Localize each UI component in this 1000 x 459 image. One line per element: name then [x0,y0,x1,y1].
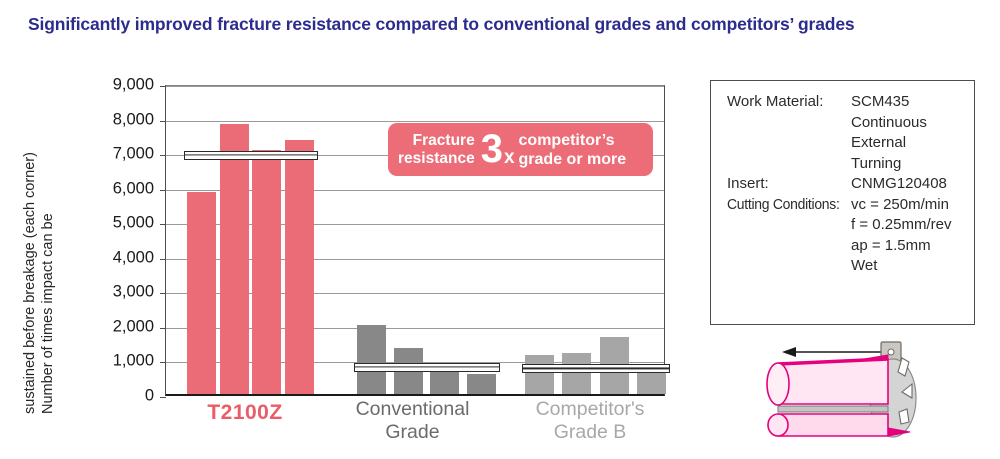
y-axis-tick-labels: 9,0008,0007,0006,0005,0004,0003,0002,000… [76,60,160,456]
conditions-value: vc = 250m/min [851,196,951,217]
y-axis-tick [160,293,166,294]
cutting-conditions-box: Work Material:SCM435ContinuousExternalTu… [710,80,975,325]
conditions-value: ap = 1.5mm [851,237,951,258]
callout-multiplier: 3 [481,130,503,170]
y-axis-tick-label: 2,000 [113,317,154,336]
callout-left-text: Fracture resistance [398,132,475,168]
bar [252,150,281,394]
y-axis-tick [160,121,166,122]
conditions-row: Work Material:SCM435 [727,93,951,114]
bar [220,124,249,394]
conditions-value: CNMG120408 [851,175,951,196]
workpiece-groove [778,406,888,412]
page-title: Significantly improved fracture resistan… [28,14,978,35]
conditions-value: Turning [851,155,951,176]
y-axis-tick [160,328,166,329]
conditions-value: External [851,134,951,155]
callout-right-text: competitor’s grade or more [519,131,627,169]
y-axis-tick-label: 8,000 [113,110,154,129]
y-axis-title-line1: Number of times impact can be [40,213,56,414]
feed-direction-arrow-head [782,347,796,357]
y-axis-tick [160,190,166,191]
conditions-label: Insert: [727,175,851,196]
bar-group [187,86,314,394]
interrupted-turning-workpiece-diagram [752,336,992,454]
y-axis-tick-label: 4,000 [113,248,154,267]
conditions-row: Insert:CNMG120408 [727,175,951,196]
y-axis-tick [160,224,166,225]
conditions-label [727,257,851,278]
workpiece-svg [752,336,992,454]
conditions-row: f = 0.25mm/rev [727,216,951,237]
conditions-table: Work Material:SCM435ContinuousExternalTu… [727,93,951,278]
conditions-label [727,216,851,237]
callout-right-line2: grade or more [519,150,627,169]
category-label-line2: Grade [320,421,505,444]
conditions-label [727,237,851,258]
workpiece-lower-body [768,414,910,436]
y-axis-tick [160,155,166,156]
conditions-row: External [727,134,951,155]
y-axis-tick [160,259,166,260]
callout-right-line1: competitor’s [519,131,627,150]
y-axis-title: Number of times impact can be sustained … [34,134,76,414]
workpiece-upper-body [767,355,888,405]
y-axis-tick-label: 3,000 [113,283,154,302]
x-axis-category-label: T2100Z [165,401,325,424]
callout-times-symbol: x [504,147,515,176]
callout-left-line1: Fracture [398,132,475,150]
conditions-row: Wet [727,257,951,278]
bar [467,374,496,394]
y-axis-title-line2: sustained before breakage (each corner) [22,152,38,414]
y-axis-tick [160,86,166,87]
bar [525,355,554,394]
conditions-label [727,155,851,176]
bar [562,353,591,394]
conditions-row: Turning [727,155,951,176]
y-axis-tick [160,362,166,363]
conditions-value: SCM435 [851,93,951,114]
conditions-value: f = 0.25mm/rev [851,216,951,237]
y-axis-tick-label: 5,000 [113,214,154,233]
conditions-label [727,114,851,135]
average-marker [522,364,670,373]
y-axis-tick-label: 7,000 [113,145,154,164]
conditions-row: ap = 1.5mm [727,237,951,258]
conditions-row: Cutting Conditions:vc = 250m/min [727,196,951,217]
x-axis-category-label: ConventionalGrade [320,398,505,444]
conditions-value: Wet [851,257,951,278]
average-marker [184,151,318,160]
conditions-row: Continuous [727,114,951,135]
y-axis-tick-label: 9,000 [113,76,154,95]
y-axis-tick-label: 6,000 [113,179,154,198]
y-axis-tick-label: 0 [145,387,154,406]
bar [357,325,386,394]
bar [285,140,314,394]
conditions-label: Cutting Conditions: [727,196,842,217]
conditions-label: Work Material: [727,93,851,114]
y-axis-tick-label: 1,000 [113,352,154,371]
x-axis-category-label: Competitor'sGrade B [495,398,685,444]
callout-left-line2: resistance [398,150,475,168]
category-label-line1: Competitor's [495,398,685,421]
conditions-value: Continuous [851,114,951,135]
bar [187,192,216,394]
x-axis-category-labels: T2100ZConventionalGradeCompetitor'sGrade… [165,398,665,456]
category-label-line1: Conventional [320,398,505,421]
conditions-label [727,134,851,155]
category-label-line2: Grade B [495,421,685,444]
average-marker [354,363,500,372]
category-label-line1: T2100Z [165,401,325,424]
fracture-resistance-callout-badge: Fracture resistance 3 x competitor’s gra… [388,123,653,176]
bar-chart: Number of times impact can be sustained … [0,60,700,456]
